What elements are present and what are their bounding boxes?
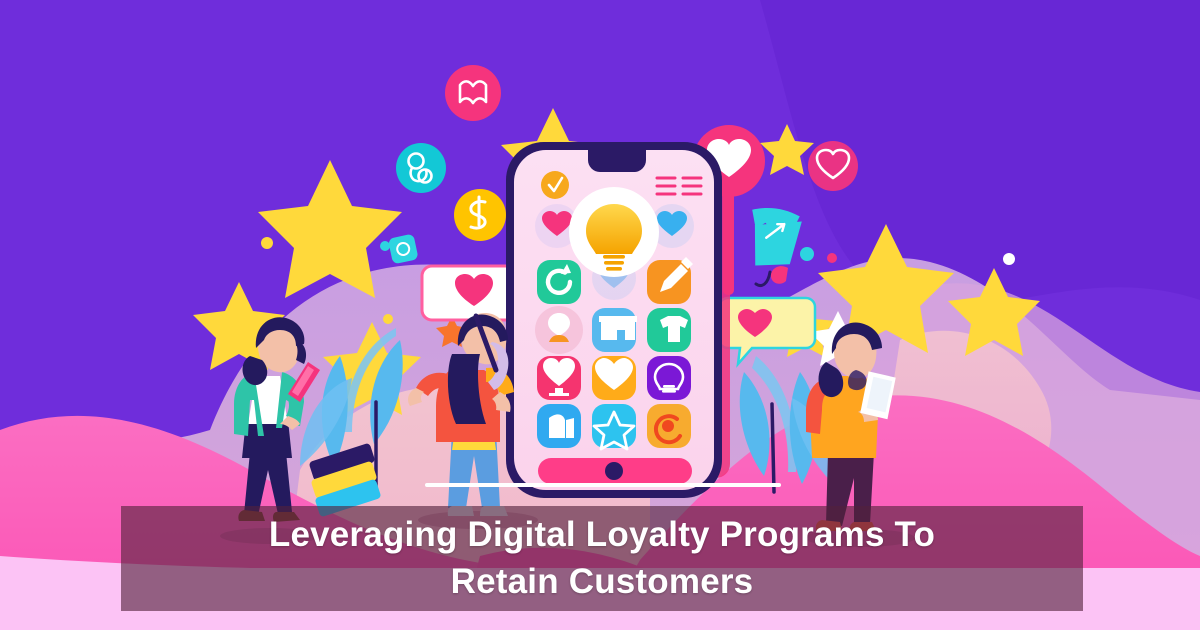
lightbulb-icon xyxy=(569,187,659,277)
app-icon-gift xyxy=(537,404,581,448)
tag-bubble-icon xyxy=(388,234,419,265)
smartphone-mockup xyxy=(506,142,730,498)
app-icon-heart-trophy xyxy=(537,356,581,400)
app-icon-store xyxy=(592,308,637,352)
wallet-bubble-icon xyxy=(396,143,446,193)
page-title: Leveraging Digital Loyalty Programs To R… xyxy=(269,512,935,604)
check-badge-icon xyxy=(541,171,569,199)
divider-rule xyxy=(425,483,781,487)
heart-bubble-icon xyxy=(808,141,858,191)
book-bubble-icon xyxy=(445,65,501,121)
app-icon-heart xyxy=(592,356,636,400)
app-icon-refresh xyxy=(537,260,581,304)
yellow-heart-speech-bubble xyxy=(719,298,815,364)
umbrella-icon xyxy=(749,205,802,285)
app-icon-star xyxy=(592,404,636,449)
app-icon-at-sign xyxy=(647,404,691,448)
app-icon-pencil xyxy=(647,257,693,304)
title-overlay: Leveraging Digital Loyalty Programs To R… xyxy=(121,506,1083,611)
hero-illustration: Leveraging Digital Loyalty Programs To R… xyxy=(0,0,1200,630)
app-icon-bulb xyxy=(647,356,691,400)
app-icon-medal xyxy=(535,306,583,354)
coin-bubble-icon xyxy=(454,189,506,241)
app-icon-tshirt xyxy=(647,308,691,352)
